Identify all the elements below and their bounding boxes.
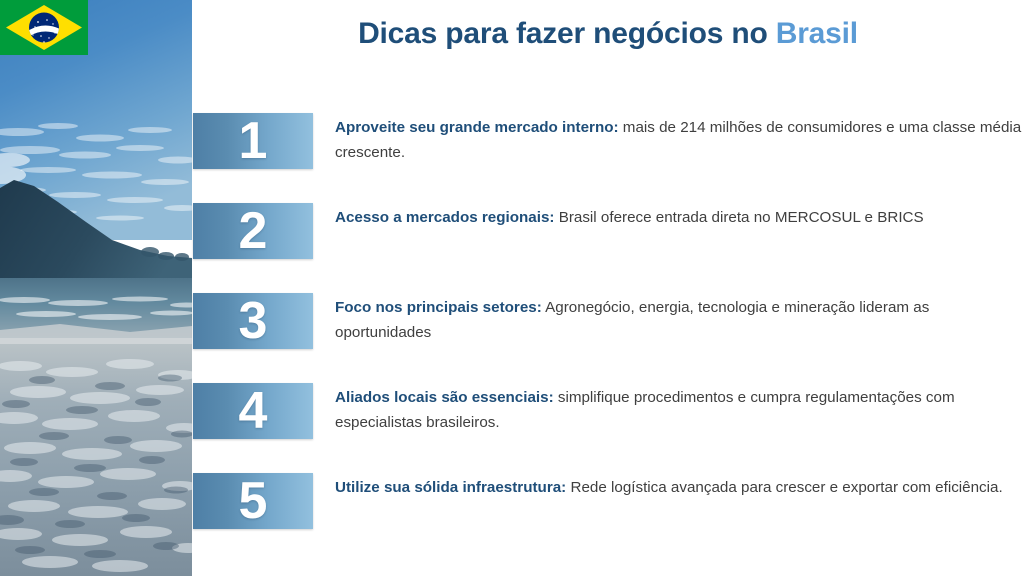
brazil-beach-photo xyxy=(0,0,192,576)
badge-number: 2 xyxy=(193,205,313,257)
list-item: 1 Aproveite seu grande mercado interno: … xyxy=(193,113,1024,203)
list-item-text: Foco nos principais setores: Agronegócio… xyxy=(335,295,1024,345)
brazil-flag-icon xyxy=(0,0,88,55)
number-badge: 3 xyxy=(193,293,313,349)
list-item-lead: Utilize sua sólida infraestrutura: xyxy=(335,479,566,496)
number-badge: 4 xyxy=(193,383,313,439)
number-badge: 1 xyxy=(193,113,313,169)
slide-canvas: Dicas para fazer negócios no Brasil 1 Ap… xyxy=(0,0,1024,576)
badge-number: 1 xyxy=(193,115,313,167)
list-item-lead: Acesso a mercados regionais: xyxy=(335,209,554,226)
list-item-text: Utilize sua sólida infraestrutura: Rede … xyxy=(335,475,1024,500)
badge-number: 4 xyxy=(193,385,313,437)
list-item: 4 Aliados locais são essenciais: simplif… xyxy=(193,383,1024,473)
list-item-lead: Aliados locais são essenciais: xyxy=(335,389,554,406)
badge-number: 5 xyxy=(193,475,313,527)
page-title-main: Dicas para fazer negócios no xyxy=(358,17,776,50)
list-item-body: Rede logística avançada para crescer e e… xyxy=(566,479,1002,496)
list-item-text: Acesso a mercados regionais: Brasil ofer… xyxy=(335,205,1024,230)
list-item: 5 Utilize sua sólida infraestrutura: Red… xyxy=(193,473,1024,563)
page-title: Dicas para fazer negócios no Brasil xyxy=(192,17,1024,51)
list-item-lead: Foco nos principais setores: xyxy=(335,299,542,316)
list-item-text: Aproveite seu grande mercado interno: ma… xyxy=(335,115,1024,165)
list-item-lead: Aproveite seu grande mercado interno: xyxy=(335,119,619,136)
number-badge: 5 xyxy=(193,473,313,529)
list-item-body: Brasil oferece entrada direta no MERCOSU… xyxy=(554,209,923,226)
list-item: 3 Foco nos principais setores: Agronegóc… xyxy=(193,293,1024,383)
tips-list: 1 Aproveite seu grande mercado interno: … xyxy=(193,113,1024,563)
badge-number: 3 xyxy=(193,295,313,347)
list-item: 2 Acesso a mercados regionais: Brasil of… xyxy=(193,203,1024,293)
number-badge: 2 xyxy=(193,203,313,259)
list-item-text: Aliados locais são essenciais: simplifiq… xyxy=(335,385,1024,435)
page-title-accent: Brasil xyxy=(776,17,858,50)
